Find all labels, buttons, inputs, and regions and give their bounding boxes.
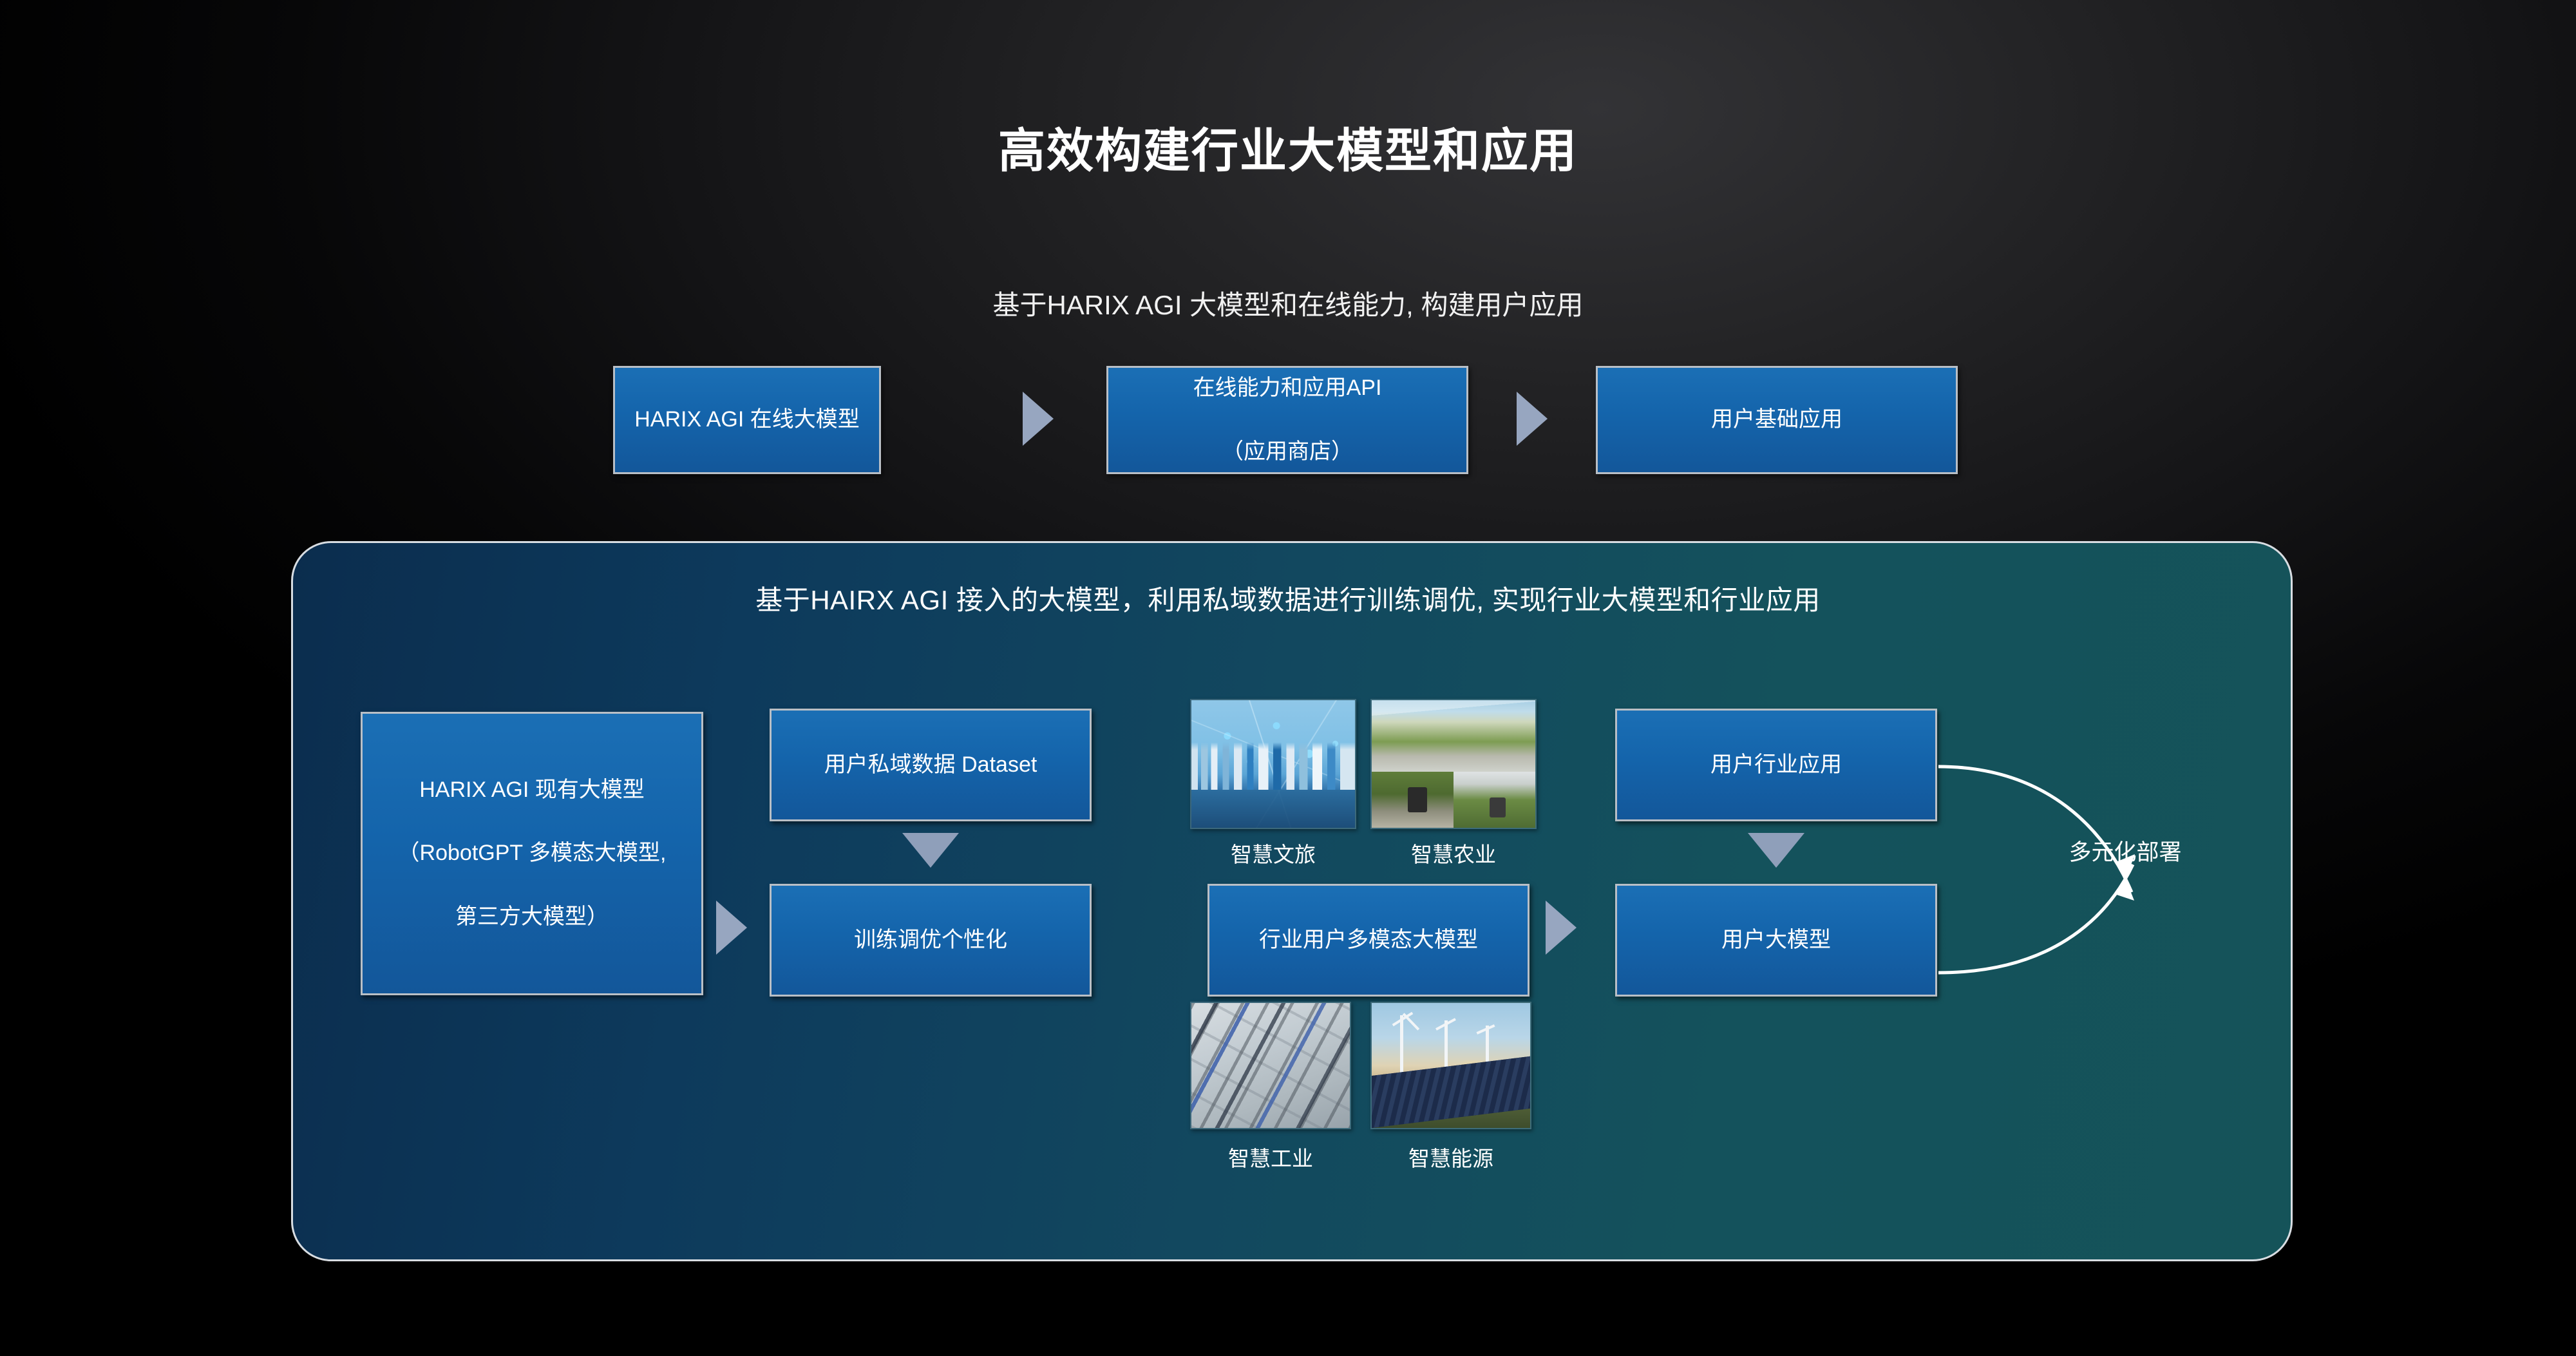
- top-box-api-store-line1: 在线能力和应用API: [1184, 372, 1391, 404]
- arrow-right-icon-1: [1023, 392, 1054, 446]
- factory-equipment-icon: [1191, 1003, 1350, 1128]
- panel-box-base-model[interactable]: HARIX AGI 现有大模型 （RobotGPT 多模态大模型, 第三方大模型…: [361, 712, 703, 995]
- smart-city-network-icon: [1191, 700, 1355, 828]
- panel-box-training[interactable]: 训练调优个性化: [770, 884, 1092, 997]
- panel-box-dataset[interactable]: 用户私域数据 Dataset: [770, 709, 1092, 821]
- subtitle: 基于HARIX AGI 大模型和在线能力, 构建用户应用: [0, 283, 2576, 323]
- industry-model-label: 行业用户多模态大模型: [1250, 924, 1487, 956]
- arrow-right-icon-2: [1517, 392, 1548, 446]
- panel-box-user-model[interactable]: 用户大模型: [1615, 884, 1937, 997]
- panel-box-industry-model[interactable]: 行业用户多模态大模型: [1207, 884, 1529, 997]
- top-box-user-base-app[interactable]: 用户基础应用: [1596, 366, 1958, 474]
- thumbnail-caption-smart-industry: 智慧工业: [1190, 1141, 1351, 1172]
- arrow-down-icon-app-to-usermodel: [1748, 833, 1804, 868]
- thumbnail-smart-agriculture: [1370, 699, 1537, 829]
- thumbnail-caption-smart-tourism: 智慧文旅: [1190, 837, 1356, 868]
- page-title: 高效构建行业大模型和应用: [0, 113, 2576, 181]
- greenhouse-robot-icon: [1372, 700, 1535, 828]
- thumbnail-caption-smart-energy: 智慧能源: [1370, 1141, 1531, 1172]
- arrow-right-icon-industry-to-usermodel: [1546, 901, 1577, 955]
- slide-canvas: 高效构建行业大模型和应用 基于HARIX AGI 大模型和在线能力, 构建用户应…: [0, 0, 2576, 1356]
- base-model-line2: （RobotGPT 多模态大模型,: [389, 837, 676, 869]
- training-label: 训练调优个性化: [845, 924, 1016, 956]
- panel-title: 基于HAIRX AGI 接入的大模型，利用私域数据进行训练调优, 实现行业大模型…: [0, 578, 2576, 618]
- panel-box-industry-app[interactable]: 用户行业应用: [1615, 709, 1937, 821]
- top-box-online-model-label: HARIX AGI 在线大模型: [625, 404, 869, 435]
- top-box-api-store[interactable]: 在线能力和应用API （应用商店）: [1106, 366, 1468, 474]
- thumbnail-smart-tourism: [1190, 699, 1356, 829]
- base-model-line3: 第三方大模型）: [389, 901, 676, 933]
- thumbnail-smart-industry: [1190, 1002, 1351, 1129]
- base-model-line1: HARIX AGI 现有大模型: [389, 774, 676, 806]
- top-box-api-store-line2: （应用商店）: [1184, 436, 1391, 468]
- top-box-user-base-app-label: 用户基础应用: [1702, 404, 1851, 435]
- deploy-label: 多元化部署: [2029, 834, 2222, 867]
- industry-app-label: 用户行业应用: [1701, 749, 1851, 781]
- thumbnail-smart-energy: [1370, 1002, 1531, 1129]
- arrow-down-icon-dataset: [902, 833, 959, 868]
- top-box-online-model[interactable]: HARIX AGI 在线大模型: [613, 366, 881, 474]
- dataset-label: 用户私域数据 Dataset: [815, 749, 1046, 781]
- wind-turbine-solar-icon: [1372, 1003, 1530, 1128]
- arrow-right-icon-base-to-training: [716, 901, 747, 955]
- user-model-label: 用户大模型: [1712, 924, 1840, 956]
- thumbnail-caption-smart-agriculture: 智慧农业: [1370, 837, 1537, 868]
